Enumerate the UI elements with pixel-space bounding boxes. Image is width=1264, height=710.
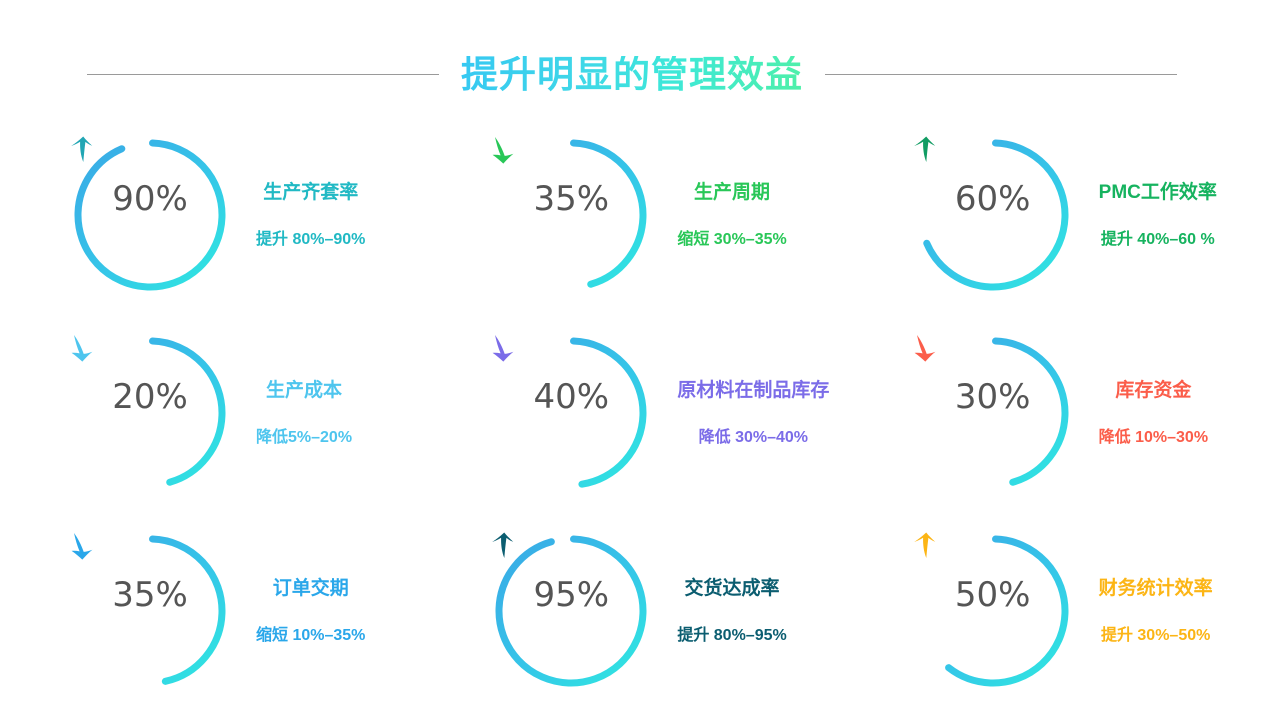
metric-title: 库存资金 [1115,381,1191,400]
progress-ring-center: 60% [913,135,1073,295]
metric-value: 60% [955,182,1031,216]
metric-labels: 交货达成率提升 80%–95% [677,579,786,644]
metric-cell: 60%PMC工作效率提升 40%–60 % [843,116,1264,314]
metric-cell-inner: 95%交货达成率提升 80%–95% [491,531,786,691]
metric-title: 财务统计效率 [1099,579,1213,598]
metric-value: 90% [112,182,188,216]
progress-ring: 50% [913,531,1073,691]
metric-value: 50% [955,578,1031,612]
progress-ring: 90% [70,135,230,295]
progress-ring-center: 50% [913,531,1073,691]
progress-ring: 35% [70,531,230,691]
metric-subtitle: 降低5%–20% [256,430,352,446]
metric-title: 原材料在制品库存 [677,381,829,400]
metric-cell: 35%生产周期缩短 30%–35% [421,116,842,314]
progress-ring: 40% [491,333,651,493]
progress-ring: 30% [913,333,1073,493]
metric-title: 生产周期 [694,183,770,202]
metric-labels: 生产齐套率提升 80%–90% [256,183,365,248]
progress-ring-center: 90% [70,135,230,295]
metric-subtitle: 降低 10%–30% [1099,430,1208,446]
progress-ring-center: 95% [491,531,651,691]
metric-cell-inner: 30%库存资金降低 10%–30% [913,333,1208,493]
metric-labels: 财务统计效率提升 30%–50% [1099,579,1213,644]
metric-cell: 30%库存资金降低 10%–30% [843,314,1264,512]
progress-ring-center: 35% [491,135,651,295]
metric-value: 40% [534,380,610,414]
metric-title: 生产齐套率 [263,183,358,202]
metric-cell-inner: 40%原材料在制品库存降低 30%–40% [491,333,829,493]
metric-cell: 35%订单交期缩短 10%–35% [0,512,421,710]
metric-subtitle: 缩短 10%–35% [256,628,365,644]
page-header: 提升明显的管理效益 [0,46,1264,102]
metric-labels: PMC工作效率提升 40%–60 % [1099,183,1217,248]
metric-cell-inner: 60%PMC工作效率提升 40%–60 % [913,135,1217,295]
metric-cell-inner: 20%生产成本降低5%–20% [70,333,352,493]
metric-cell: 20%生产成本降低5%–20% [0,314,421,512]
metric-subtitle: 提升 80%–95% [677,628,786,644]
progress-ring-center: 30% [913,333,1073,493]
metric-cell: 50%财务统计效率提升 30%–50% [843,512,1264,710]
progress-ring: 95% [491,531,651,691]
metric-subtitle: 降低 30%–40% [699,430,808,446]
progress-ring-center: 20% [70,333,230,493]
metric-labels: 原材料在制品库存降低 30%–40% [677,381,829,446]
metric-title: 生产成本 [266,381,342,400]
metric-value: 20% [112,380,188,414]
progress-ring-center: 40% [491,333,651,493]
metrics-grid: 90%生产齐套率提升 80%–90%35%生产周期缩短 30%–35%60%PM… [0,116,1264,710]
metric-title: 订单交期 [273,579,349,598]
metric-value: 35% [112,578,188,612]
metric-cell: 95%交货达成率提升 80%–95% [421,512,842,710]
metric-subtitle: 提升 40%–60 % [1101,232,1215,248]
metric-subtitle: 缩短 30%–35% [677,232,786,248]
metric-subtitle: 提升 80%–90% [256,232,365,248]
metric-labels: 生产成本降低5%–20% [256,381,352,446]
metric-cell: 90%生产齐套率提升 80%–90% [0,116,421,314]
metric-cell: 40%原材料在制品库存降低 30%–40% [421,314,842,512]
title-divider-right [825,74,1177,75]
progress-ring: 35% [491,135,651,295]
page-title: 提升明显的管理效益 [461,56,803,93]
metric-title: PMC工作效率 [1099,183,1217,202]
title-divider-left [87,74,439,75]
progress-ring-center: 35% [70,531,230,691]
progress-ring: 20% [70,333,230,493]
metric-subtitle: 提升 30%–50% [1101,628,1210,644]
metric-labels: 订单交期缩短 10%–35% [256,579,365,644]
metric-value: 30% [955,380,1031,414]
metric-labels: 生产周期缩短 30%–35% [677,183,786,248]
progress-ring: 60% [913,135,1073,295]
metric-labels: 库存资金降低 10%–30% [1099,381,1208,446]
metric-value: 95% [534,578,610,612]
metric-cell-inner: 90%生产齐套率提升 80%–90% [70,135,365,295]
metric-cell-inner: 50%财务统计效率提升 30%–50% [913,531,1213,691]
metric-value: 35% [534,182,610,216]
metric-title: 交货达成率 [685,579,780,598]
metric-cell-inner: 35%生产周期缩短 30%–35% [491,135,786,295]
metric-cell-inner: 35%订单交期缩短 10%–35% [70,531,365,691]
